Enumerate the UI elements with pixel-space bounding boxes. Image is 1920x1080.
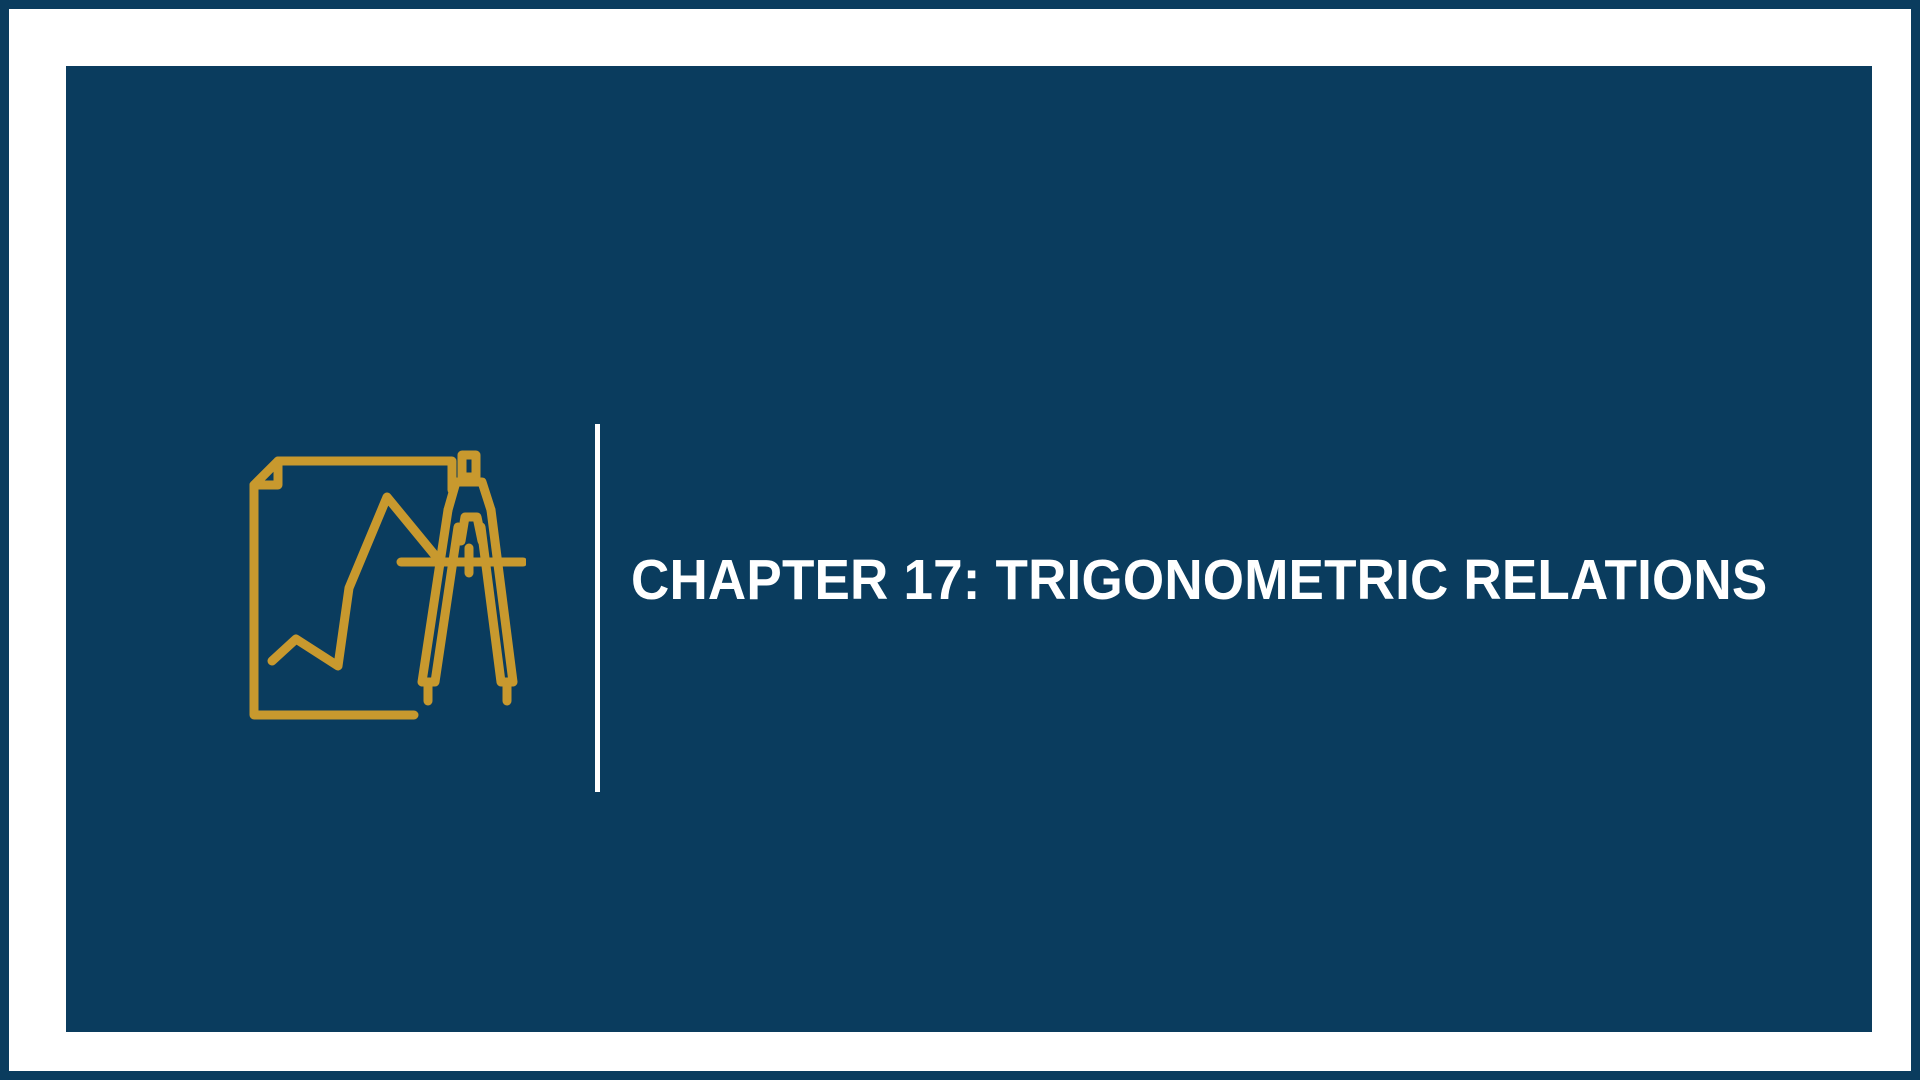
- compass-icon: [401, 455, 523, 701]
- page-title: CHAPTER 17: TRIGONOMETRIC RELATIONS: [631, 551, 1767, 611]
- chapter-icon: [216, 426, 526, 726]
- slide-frame: CHAPTER 17: TRIGONOMETRIC RELATIONS: [0, 0, 1920, 1080]
- slide-panel: CHAPTER 17: TRIGONOMETRIC RELATIONS: [66, 66, 1872, 1032]
- slide-content-row: CHAPTER 17: TRIGONOMETRIC RELATIONS: [66, 366, 1872, 796]
- title-block: CHAPTER 17: TRIGONOMETRIC RELATIONS: [631, 366, 1853, 796]
- document-chart-and-compass-icon: [216, 426, 526, 726]
- line-chart-icon: [272, 497, 438, 666]
- vertical-divider-rule: [595, 424, 600, 792]
